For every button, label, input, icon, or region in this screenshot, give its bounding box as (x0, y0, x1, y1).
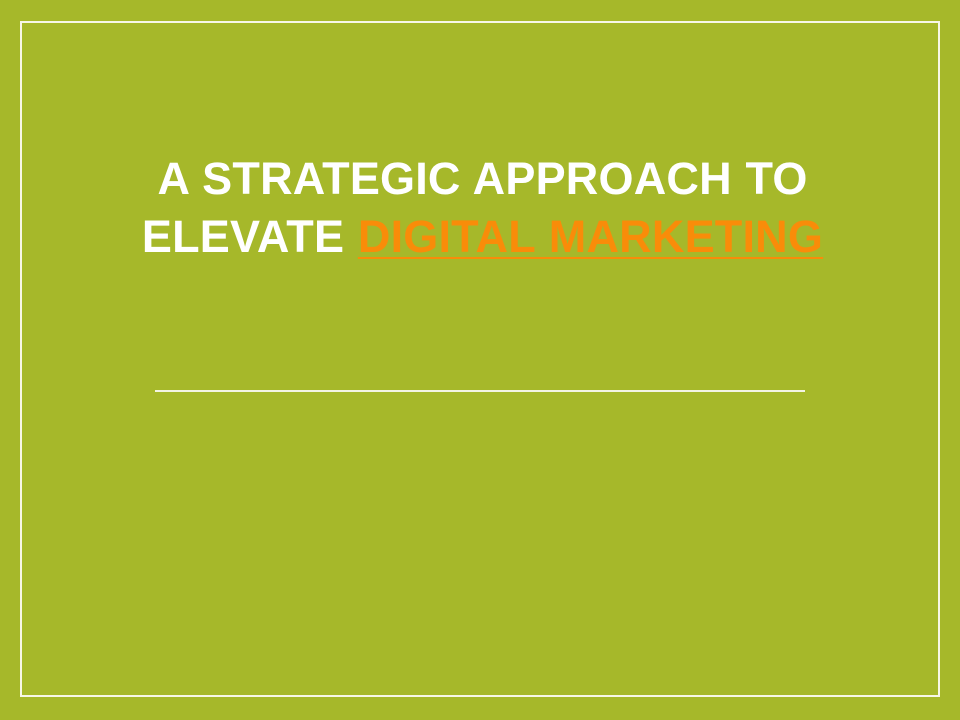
presentation-slide: A STRATEGIC APPROACH TO ELEVATE DIGITAL … (0, 0, 960, 720)
title-placeholder[interactable]: A STRATEGIC APPROACH TO ELEVATE DIGITAL … (110, 150, 855, 266)
slide-title-accent-link[interactable]: DIGITAL MARKETING (358, 211, 823, 262)
title-divider-line (155, 390, 805, 392)
body-content-placeholder[interactable] (110, 412, 855, 677)
slide-title: A STRATEGIC APPROACH TO ELEVATE DIGITAL … (110, 150, 855, 266)
